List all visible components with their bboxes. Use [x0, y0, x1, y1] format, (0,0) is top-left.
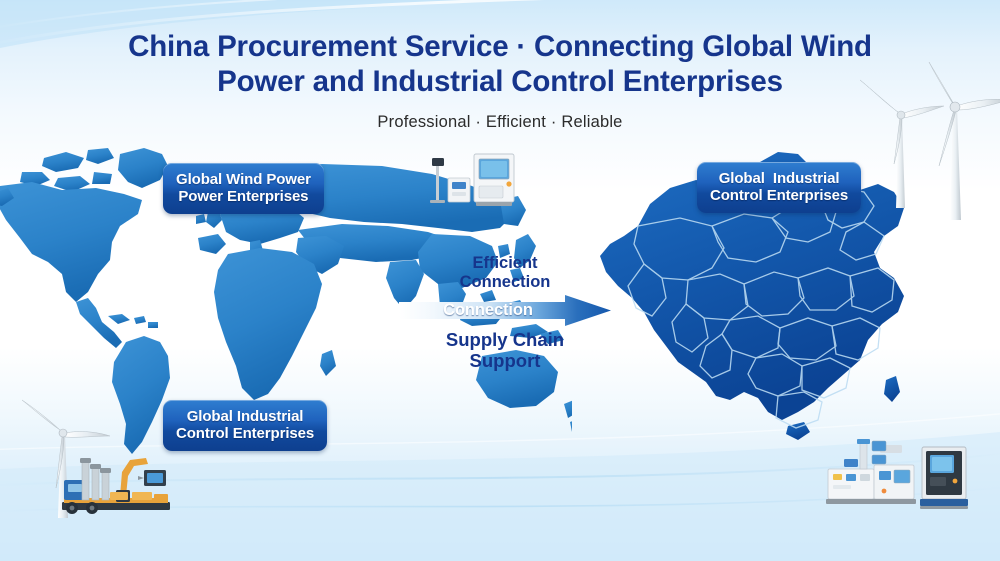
- page-subtitle: Professional · Efficient · Reliable: [0, 100, 1000, 132]
- connector-top-text: Efficient Connection: [399, 254, 611, 292]
- page-title: China Procurement Service · Connecting G…: [0, 0, 1000, 100]
- badge-wind-line2: Power Enterprises: [176, 188, 311, 205]
- industrial-crane-vehicle-icon: [58, 452, 176, 522]
- badge-global-industrial-right[interactable]: Global Industrial Control Enterprises: [697, 162, 861, 213]
- connector-bottom-text: Supply Chain Support: [399, 330, 611, 372]
- header: China Procurement Service · Connecting G…: [0, 0, 1000, 132]
- badge-industrial-right-line1: Global Industrial: [710, 170, 848, 187]
- badge-global-wind-power[interactable]: Global Wind Power Power Enterprises: [163, 163, 324, 214]
- connector-bottom-line2: Support: [399, 351, 611, 372]
- industrial-control-cabinet-icon: [424, 148, 520, 210]
- badge-industrial-left-line1: Global Industrial: [176, 408, 314, 425]
- arrow-label: Connection: [399, 295, 577, 326]
- connector-top-line2: Connection: [399, 273, 611, 292]
- connector-top-line1: Efficient: [399, 254, 611, 273]
- badge-industrial-left-line2: Control Enterprises: [176, 425, 314, 442]
- connector-bottom-line1: Supply Chain: [399, 330, 611, 351]
- connection-arrow-group: Efficient Connection Connection: [399, 254, 611, 364]
- poster-canvas: Global Wind Power Power Enterprises Glob…: [0, 0, 1000, 561]
- badge-industrial-right-line2: Control Enterprises: [710, 187, 848, 204]
- title-line-2: Power and Industrial Control Enterprises: [0, 65, 1000, 100]
- industrial-control-cabinet-icon: [824, 437, 974, 515]
- title-line-1: China Procurement Service · Connecting G…: [128, 30, 872, 63]
- badge-global-industrial-left[interactable]: Global Industrial Control Enterprises: [163, 400, 327, 451]
- badge-wind-line1: Global Wind Power: [176, 171, 311, 188]
